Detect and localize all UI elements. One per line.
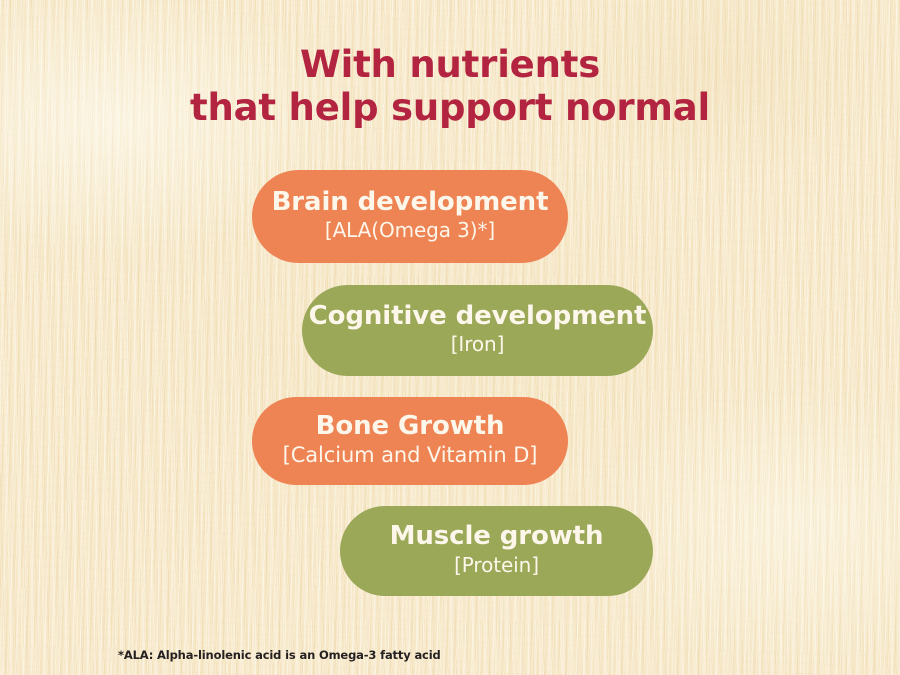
benefit-title: Muscle growth (390, 523, 604, 550)
benefit-pill-brain-development: Brain development [ALA(Omega 3)*] (252, 170, 568, 263)
headline-line-2: that help support normal (0, 87, 900, 130)
footnote-ala-definition: *ALA: Alpha-linolenic acid is an Omega-3… (118, 648, 441, 662)
benefit-nutrient: [Protein] (454, 554, 539, 577)
benefit-title: Brain development (272, 189, 549, 216)
benefit-pill-cognitive-development: Cognitive development [Iron] (302, 285, 653, 376)
benefit-title: Bone Growth (316, 413, 505, 440)
benefit-title: Cognitive development (309, 303, 647, 330)
benefit-pill-bone-growth: Bone Growth [Calcium and Vitamin D] (252, 397, 568, 485)
benefit-pill-muscle-growth: Muscle growth [Protein] (340, 506, 653, 596)
page-title: With nutrients that help support normal (0, 44, 900, 130)
benefit-nutrient: [Iron] (451, 333, 505, 356)
headline-line-1: With nutrients (0, 44, 900, 87)
nutrition-benefits-poster: With nutrients that help support normal … (0, 0, 900, 675)
benefit-nutrient: [Calcium and Vitamin D] (283, 443, 538, 467)
benefit-nutrient: [ALA(Omega 3)*] (325, 219, 495, 242)
